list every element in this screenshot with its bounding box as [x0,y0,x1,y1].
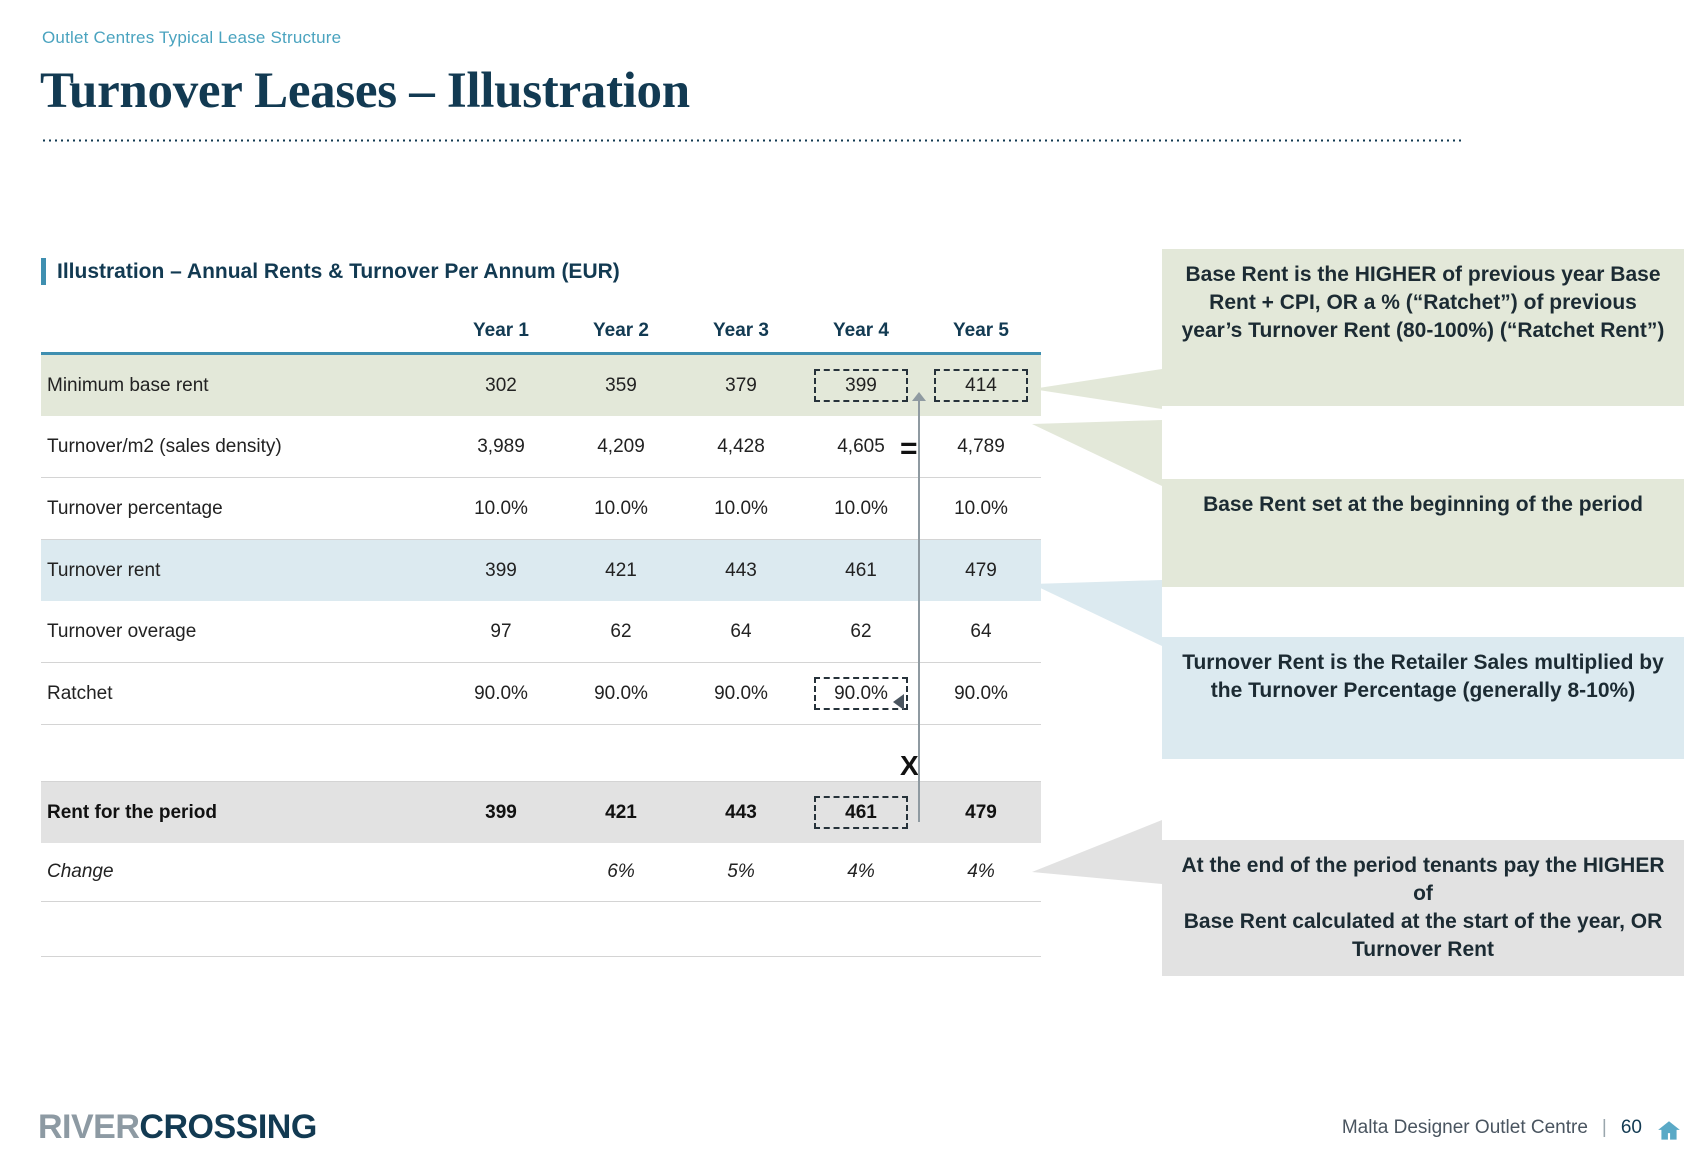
column-header-year-1: Year 1 [441,320,561,354]
table-row: Turnover/m2 (sales density) 3,989 4,209 … [41,416,1041,478]
table-spacer-row [41,725,1041,782]
cell-turnover-rent-year-4: 461 [801,540,921,602]
connector-arrow-left-icon [893,694,904,710]
cell-turnover-rent-year-5: 479 [921,540,1041,602]
row-label-turnover-per-m2: Turnover/m2 (sales density) [41,416,441,478]
cell-change-year-2: 6% [561,843,681,902]
cell-turnover-percentage-year-4: 10.0% [801,478,921,540]
cell-turnover-overage-year-2: 62 [561,601,681,663]
row-label-turnover-overage: Turnover overage [41,601,441,663]
cell-rent-for-period-year-1: 399 [441,782,561,844]
table-row: Ratchet 90.0% 90.0% 90.0% 90.0% 90.0% [41,663,1041,725]
callout-pointer-1 [1032,369,1162,409]
cell-ratchet-year-3: 90.0% [681,663,801,725]
cell-turnover-overage-year-1: 97 [441,601,561,663]
table-footer-spacer-row [41,902,1041,957]
cell-turnover-per-m2-year-5: 4,789 [921,416,1041,478]
footer-project-name: Malta Designer Outlet Centre [1342,1117,1588,1139]
connector-line [918,398,920,822]
column-header-label [41,320,441,354]
row-label-minimum-base-rent: Minimum base rent [41,354,441,417]
home-icon[interactable] [1656,1118,1682,1144]
cell-rent-for-period-year-2: 421 [561,782,681,844]
callout-pointer-3 [1032,580,1162,646]
footer-meta: Malta Designer Outlet Centre | 60 [1342,1117,1642,1139]
cell-turnover-per-m2-year-1: 3,989 [441,416,561,478]
cell-ratchet-year-1: 90.0% [441,663,561,725]
callout-pointer-4 [1032,820,1162,884]
connector-arrow-up-icon [912,392,926,401]
eyebrow-text: Outlet Centres Typical Lease Structure [42,28,341,48]
cell-minimum-base-rent-year-1: 302 [441,354,561,417]
table-row: Turnover overage 97 62 64 62 64 [41,601,1041,663]
title-divider [41,139,1461,142]
cell-turnover-overage-year-5: 64 [921,601,1041,663]
operator-multiply: X [900,750,919,782]
cell-turnover-rent-year-1: 399 [441,540,561,602]
highlight-box-rent-for-period-year-4: 461 [814,796,908,830]
cell-turnover-percentage-year-1: 10.0% [441,478,561,540]
column-header-year-2: Year 2 [561,320,681,354]
annotation-turnover-rent-definition: Turnover Rent is the Retailer Sales mult… [1162,637,1684,759]
column-header-year-4: Year 4 [801,320,921,354]
callout-pointer-2 [1032,420,1162,486]
row-label-turnover-rent: Turnover rent [41,540,441,602]
cell-minimum-base-rent-year-4: 399 [801,354,921,417]
cell-rent-for-period-year-5: 479 [921,782,1041,844]
row-label-rent-for-the-period: Rent for the period [41,782,441,844]
row-label-change: Change [41,843,441,902]
cell-change-year-1 [441,843,561,902]
row-label-turnover-percentage: Turnover percentage [41,478,441,540]
cell-rent-for-period-year-4: 461 [801,782,921,844]
operator-equals: = [900,432,918,466]
cell-minimum-base-rent-year-5: 414 [921,354,1041,417]
highlight-box-base-rent-year-5: 414 [934,369,1028,403]
table-header-row: Year 1 Year 2 Year 3 Year 4 Year 5 [41,320,1041,354]
cell-minimum-base-rent-year-2: 359 [561,354,681,417]
highlight-box-base-rent-year-4: 399 [814,369,908,403]
cell-turnover-percentage-year-2: 10.0% [561,478,681,540]
page-title: Turnover Leases – Illustration [40,62,690,120]
annotation-base-rent-higher-of: Base Rent is the HIGHER of previous year… [1162,249,1684,406]
section-accent-bar [41,258,46,285]
cell-turnover-overage-year-3: 64 [681,601,801,663]
cell-turnover-rent-year-3: 443 [681,540,801,602]
cell-change-year-3: 5% [681,843,801,902]
cell-turnover-percentage-year-5: 10.0% [921,478,1041,540]
cell-ratchet-year-5: 90.0% [921,663,1041,725]
logo-text-crossing: CROSSING [139,1108,316,1147]
table-row: Rent for the period 399 421 443 461 479 [41,782,1041,844]
table-row: Turnover rent 399 421 443 461 479 [41,540,1041,602]
cell-turnover-overage-year-4: 62 [801,601,921,663]
table-row: Change 6% 5% 4% 4% [41,843,1041,902]
row-label-ratchet: Ratchet [41,663,441,725]
cell-turnover-per-m2-year-3: 4,428 [681,416,801,478]
company-logo: RIVER CROSSING [38,1108,317,1147]
table-row: Minimum base rent 302 359 379 399 414 [41,354,1041,417]
cell-turnover-percentage-year-3: 10.0% [681,478,801,540]
table-row: Turnover percentage 10.0% 10.0% 10.0% 10… [41,478,1041,540]
column-header-year-3: Year 3 [681,320,801,354]
annotation-end-of-period-payment: At the end of the period tenants pay the… [1162,840,1684,976]
rent-table: Year 1 Year 2 Year 3 Year 4 Year 5 Minim… [41,320,1041,957]
cell-change-year-5: 4% [921,843,1041,902]
page-number: 60 [1621,1117,1642,1139]
cell-change-year-4: 4% [801,843,921,902]
cell-turnover-per-m2-year-2: 4,209 [561,416,681,478]
cell-ratchet-year-2: 90.0% [561,663,681,725]
cell-turnover-rent-year-2: 421 [561,540,681,602]
cell-minimum-base-rent-year-3: 379 [681,354,801,417]
column-header-year-5: Year 5 [921,320,1041,354]
logo-text-river: RIVER [38,1108,139,1147]
rent-table-container: Year 1 Year 2 Year 3 Year 4 Year 5 Minim… [41,320,1041,957]
section-heading: Illustration – Annual Rents & Turnover P… [41,258,620,285]
cell-rent-for-period-year-3: 443 [681,782,801,844]
footer-divider: | [1602,1117,1607,1139]
annotation-base-rent-set-at-start: Base Rent set at the beginning of the pe… [1162,479,1684,587]
section-heading-label: Illustration – Annual Rents & Turnover P… [57,260,620,284]
